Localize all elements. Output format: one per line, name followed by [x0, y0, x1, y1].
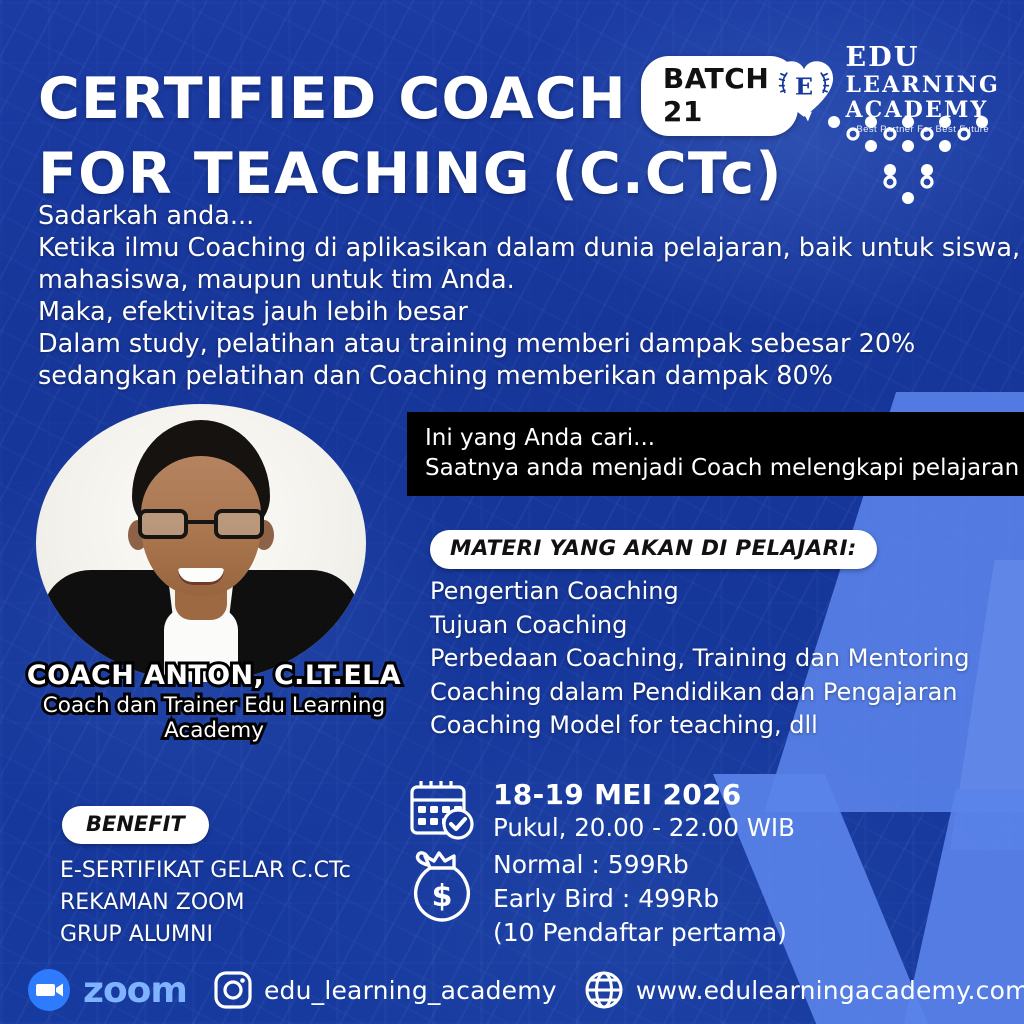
logo-line-2: LEARNING [846, 74, 1001, 96]
website-url: www.edulearningacademy.com [636, 976, 1024, 1005]
banner-line-1: Ini yang Anda cari... [425, 423, 1024, 453]
materi-item: Tujuan Coaching [430, 609, 990, 643]
intro-line: Maka, efektivitas jauh lebih besar [38, 296, 948, 328]
price-note: (10 Pendaftar pertama) [493, 916, 787, 950]
benefit-heading: BENEFIT [62, 806, 209, 844]
svg-text:$: $ [432, 879, 453, 914]
speaker-role: Coach dan Trainer Edu Learning Academy [18, 693, 410, 743]
zoom-label: zoom [83, 970, 187, 1011]
intro-line: Ketika ilmu Coaching di aplikasikan dala… [38, 232, 948, 264]
money-bag-icon: $ [408, 848, 476, 924]
speaker-nameplate: COACH ANTON, C.LT.ELA Coach dan Trainer … [18, 660, 410, 743]
intro-line: Dalam study, pelatihan atau training mem… [38, 328, 948, 360]
promo-poster: CERTIFIED COACH BATCH 21 FOR TEACHING (C… [0, 0, 1024, 1024]
globe-icon [583, 969, 625, 1011]
intro-paragraph: Sadarkah anda... Ketika ilmu Coaching di… [38, 200, 948, 392]
pricing-block: $ Normal : 599Rb Early Bird : 499Rb (10 … [408, 848, 787, 950]
zoom-video-icon [26, 967, 72, 1013]
logo-line-1: EDU [846, 44, 1001, 71]
dot-triangle-decoration [826, 112, 996, 208]
banner-line-2: Saatnya anda menjadi Coach melengkapi pe… [425, 453, 1024, 483]
website-link[interactable]: www.edulearningacademy.com [583, 969, 1024, 1011]
zoom-platform: zoom [26, 967, 187, 1013]
instagram-link[interactable]: edu_learning_academy [213, 970, 557, 1010]
title-line-1: CERTIFIED COACH [38, 67, 627, 131]
intro-line: sedangkan pelatihan dan Coaching memberi… [38, 360, 948, 392]
materi-heading: MATERI YANG AKAN DI PELAJARI: [430, 530, 877, 569]
intro-line: mahasiswa, maupun untuk tim Anda. [38, 264, 948, 296]
benefit-item: REKAMAN ZOOM [60, 887, 351, 919]
event-date: 18-19 MEI 2026 [493, 778, 795, 811]
footer-bar: zoom edu_learning_academy www.edulearnin… [0, 956, 1024, 1024]
speaker-photo [36, 404, 366, 682]
callout-banner: Ini yang Anda cari... Saatnya anda menja… [407, 412, 1024, 496]
benefit-item: E-SERTIFIKAT GELAR C.CTc [60, 855, 351, 887]
materi-item: Perbedaan Coaching, Training dan Mentori… [430, 642, 990, 676]
benefit-list: E-SERTIFIKAT GELAR C.CTc REKAMAN ZOOM GR… [60, 855, 351, 951]
speaker-name: COACH ANTON, C.LT.ELA [18, 660, 410, 691]
intro-line: Sadarkah anda... [38, 200, 948, 232]
svg-text:E: E [794, 73, 812, 101]
benefit-item: GRUP ALUMNI [60, 919, 351, 951]
title-line-2: FOR TEACHING (C.CTc) [38, 142, 798, 206]
materi-item: Coaching dalam Pendidikan dan Pengajaran [430, 676, 990, 710]
instagram-icon [213, 970, 253, 1010]
materi-list: Pengertian Coaching Tujuan Coaching Perb… [430, 575, 990, 743]
materi-item: Coaching Model for teaching, dll [430, 709, 990, 743]
page-title: CERTIFIED COACH BATCH 21 FOR TEACHING (C… [38, 56, 798, 206]
price-normal: Normal : 599Rb [493, 848, 787, 882]
price-early-bird: Early Bird : 499Rb [493, 882, 787, 916]
instagram-handle: edu_learning_academy [264, 976, 557, 1005]
schedule-block: 18-19 MEI 2026 Pukul, 20.00 - 22.00 WIB [408, 778, 795, 844]
materi-item: Pengertian Coaching [430, 575, 990, 609]
calendar-check-icon [408, 778, 476, 844]
event-time: Pukul, 20.00 - 22.00 WIB [493, 813, 795, 842]
